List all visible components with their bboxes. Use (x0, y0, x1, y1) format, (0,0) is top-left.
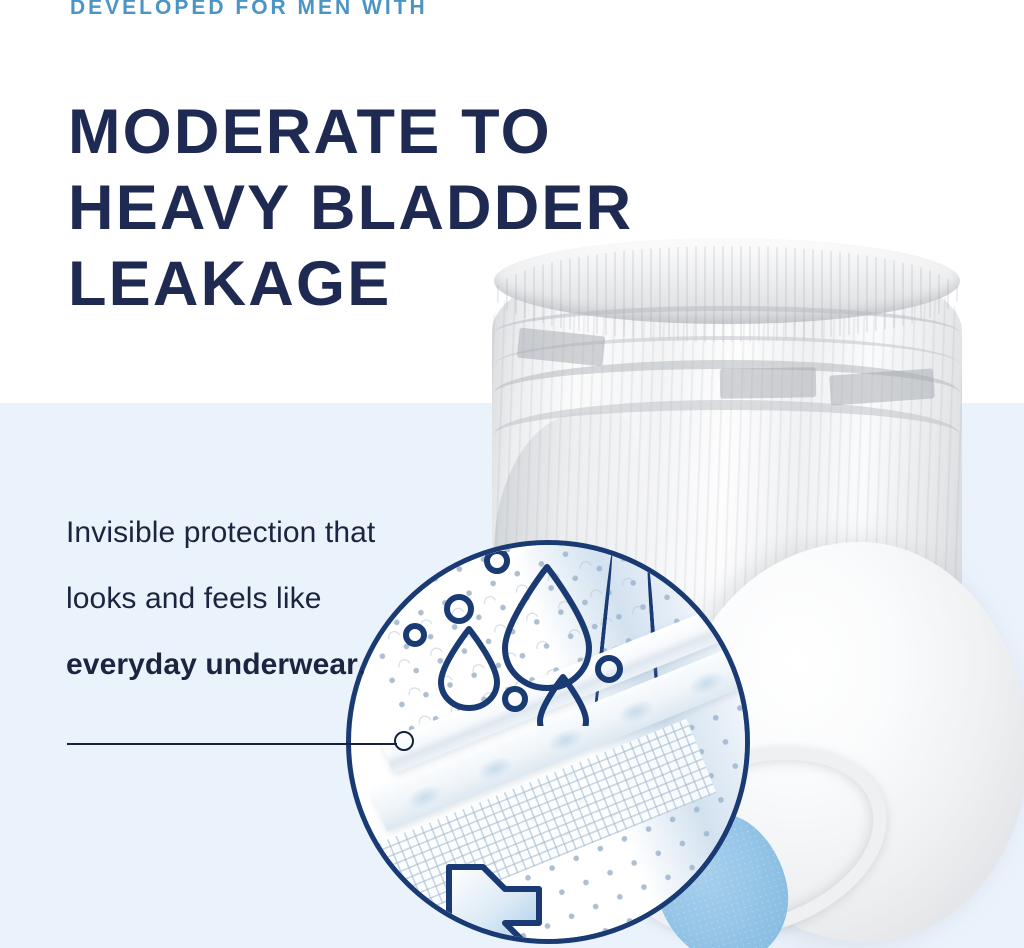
feature-description: Invisible protection that looks and feel… (66, 500, 406, 698)
waistband-stripe-4 (494, 400, 960, 470)
leader-line (67, 743, 397, 745)
droplet-bubble-2 (406, 626, 424, 644)
feature-text-period: . (358, 648, 366, 681)
feature-text-emphasis: everyday underwear (66, 648, 358, 681)
headline-line-2: HEAVY BLADDER (68, 170, 848, 246)
eyebrow-text: DEVELOPED FOR MEN WITH (70, 0, 428, 23)
droplet-bubble-1 (447, 597, 471, 621)
droplet-bubble-5 (505, 689, 525, 709)
leader-dot (394, 731, 414, 751)
waistband-patch-2 (720, 367, 817, 399)
marketing-banner: DEVELOPED FOR MEN WITH MODERATE TO HEAVY… (0, 0, 1024, 948)
droplet-bubble-4 (598, 658, 620, 680)
droplet-medium (441, 629, 497, 708)
headline-line-3: LEAKAGE (68, 246, 848, 322)
absorption-arrow-icon (443, 845, 573, 939)
droplet-bubble-3 (487, 551, 507, 571)
water-droplet-group (397, 551, 647, 726)
headline-line-1: MODERATE TO (68, 94, 848, 170)
feature-text-regular: Invisible protection that looks and feel… (66, 516, 375, 615)
droplet-large (505, 567, 589, 688)
page-title: MODERATE TO HEAVY BLADDER LEAKAGE (68, 94, 848, 322)
